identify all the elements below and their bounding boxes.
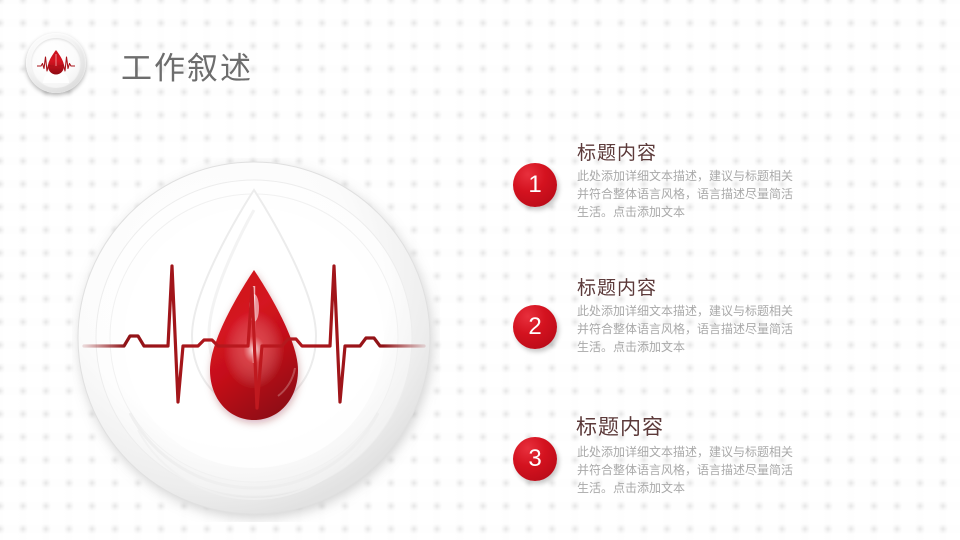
slide-header: 工作叙述 <box>0 0 960 112</box>
item-body-text: 此处添加详细文本描述，建议与标题相关并符合整体语言风格，语言描述尽量简活生活。点… <box>577 302 795 356</box>
item-text-column: 标题内容 此处添加详细文本描述，建议与标题相关并符合整体语言风格，语言描述尽量简… <box>577 273 817 356</box>
badge-artwork <box>26 33 86 93</box>
item-heading: 标题内容 <box>577 138 817 165</box>
slide-canvas: 工作叙述 <box>0 0 960 540</box>
item-number-badge: 1 <box>513 163 557 207</box>
blood-drop-ecg-badge-icon <box>26 33 86 93</box>
item-body-text: 此处添加详细文本描述，建议与标题相关并符合整体语言风格，语言描述尽量简活生活。点… <box>577 167 795 221</box>
item-heading: 标题内容 <box>577 273 817 300</box>
item-body-text: 此处添加详细文本描述，建议与标题相关并符合整体语言风格，语言描述尽量简活生活。点… <box>577 443 795 497</box>
page-title: 工作叙述 <box>121 43 253 88</box>
item-number-badge: 3 <box>513 437 557 481</box>
item-heading: 标题内容 <box>576 411 817 441</box>
item-text-column: 标题内容 此处添加详细文本描述，建议与标题相关并符合整体语言风格，语言描述尽量简… <box>577 138 817 221</box>
content-list: 1 标题内容 此处添加详细文本描述，建议与标题相关并符合整体语言风格，语言描述尽… <box>505 130 935 510</box>
blood-drop-ecg-circle-graphic <box>72 158 440 522</box>
item-number-badge: 2 <box>513 305 557 349</box>
item-text-column: 标题内容 此处添加详细文本描述，建议与标题相关并符合整体语言风格，语言描述尽量简… <box>577 411 817 497</box>
